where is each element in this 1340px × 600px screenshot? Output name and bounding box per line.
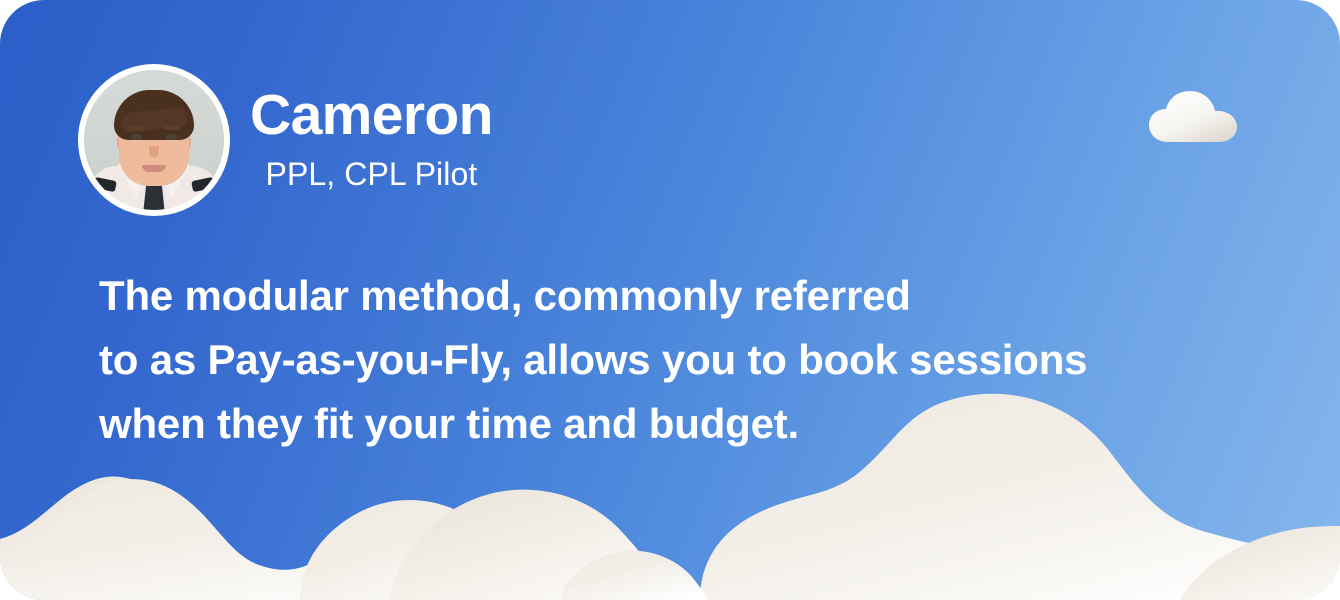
testimonial-quote: The modular method, commonly referred to…	[99, 264, 1219, 456]
avatar-nose	[149, 146, 159, 158]
identity-block: Cameron PPL, CPL Pilot	[250, 86, 493, 193]
testimonial-card: Cameron PPL, CPL Pilot The modular metho…	[0, 0, 1340, 600]
quote-line-3: when they fit your time and budget.	[99, 392, 1219, 456]
cloud-icon	[1148, 88, 1248, 146]
avatar	[78, 64, 230, 216]
avatar-eye-left	[131, 134, 142, 140]
quote-line-1: The modular method, commonly referred	[99, 264, 1219, 328]
avatar-brow-left	[128, 126, 144, 130]
avatar-brow-right	[164, 126, 180, 130]
quote-line-2: to as Pay-as-you-Fly, allows you to book…	[99, 328, 1219, 392]
person-role: PPL, CPL Pilot	[266, 155, 478, 193]
avatar-mouth	[142, 165, 166, 172]
person-name: Cameron	[250, 86, 493, 146]
avatar-image	[84, 70, 224, 210]
profile-header: Cameron PPL, CPL Pilot	[78, 64, 493, 216]
avatar-eye-right	[166, 134, 177, 140]
